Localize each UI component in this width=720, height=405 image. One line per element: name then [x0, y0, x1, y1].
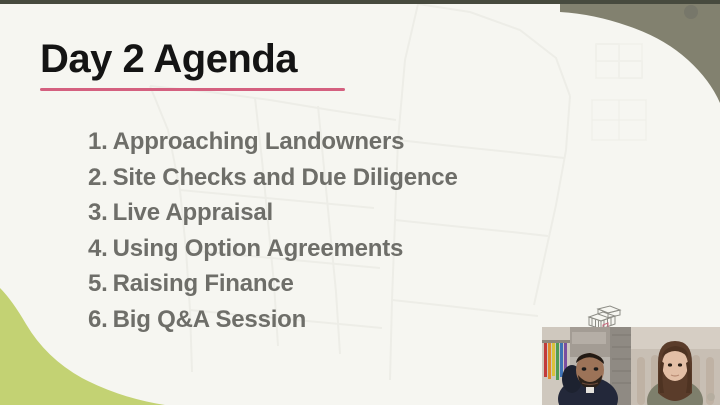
list-item: 4.Using Option Agreements	[88, 231, 458, 267]
list-item-number: 5.	[88, 270, 108, 297]
list-item: 2.Site Checks and Due Diligence	[88, 160, 458, 196]
page-title-block: Day 2 Agenda	[40, 38, 345, 91]
list-item-label: Approaching Landowners	[113, 128, 405, 155]
list-item: 5.Raising Finance	[88, 266, 458, 302]
list-item-number: 2.	[88, 164, 108, 191]
list-item-label: Live Appraisal	[113, 199, 273, 226]
list-item-number: 4.	[88, 235, 108, 262]
list-item: 6.Big Q&A Session	[88, 302, 458, 338]
list-item: 1.Approaching Landowners	[88, 124, 458, 160]
list-item-number: 3.	[88, 199, 108, 226]
list-item-label: Site Checks and Due Diligence	[113, 164, 458, 191]
page-title: Day 2 Agenda	[40, 38, 345, 80]
list-item: 3.Live Appraisal	[88, 195, 458, 231]
participant-video-left[interactable]	[542, 327, 631, 405]
list-item-label: Big Q&A Session	[113, 306, 306, 333]
list-item-label: Raising Finance	[113, 270, 294, 297]
top-edge-bar	[0, 0, 720, 4]
agenda-list: 1.Approaching Landowners 2.Site Checks a…	[88, 124, 458, 337]
list-item-label: Using Option Agreements	[113, 235, 404, 262]
list-item-number: 1.	[88, 128, 108, 155]
olive-corner-blob	[560, 0, 720, 103]
video-tiles	[542, 327, 720, 405]
presentation-slide: Day 2 Agenda 1.Approaching Landowners 2.…	[0, 0, 720, 405]
list-item-number: 6.	[88, 306, 108, 333]
participant-video-right[interactable]	[631, 327, 720, 405]
title-underline-rule	[40, 88, 345, 91]
